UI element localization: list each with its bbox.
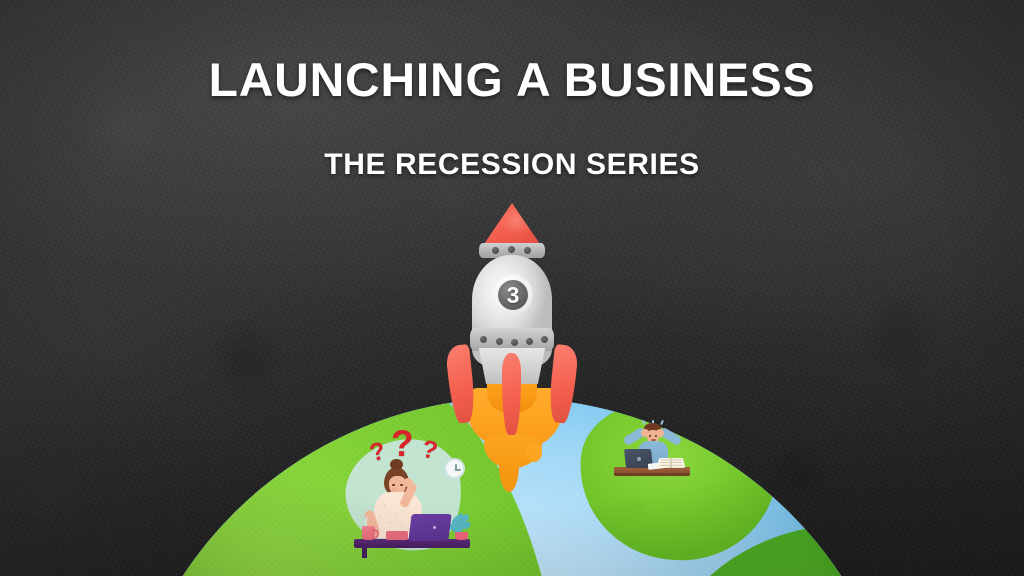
rocket-fin-center: [502, 353, 521, 435]
rivet-icon: [508, 246, 515, 253]
man-hand-left: [641, 429, 649, 437]
rivet-icon: [492, 247, 499, 254]
woman-belt: [386, 531, 408, 540]
flame-plume-tip: [499, 458, 519, 492]
page-title: LAUNCHING A BUSINESS: [0, 56, 1024, 103]
rivet-icon: [480, 336, 487, 343]
woman-hair-bun: [390, 459, 403, 470]
man-laptop-logo: [637, 457, 641, 461]
book-text-lines: [659, 460, 682, 466]
woman-hand: [403, 478, 413, 487]
man-desk-edge: [614, 473, 690, 476]
man-eye-left: [649, 435, 651, 437]
question-mark-icon: ?: [391, 425, 414, 462]
rivet-icon: [541, 336, 548, 343]
wall-clock-icon: [444, 458, 465, 479]
rivet-icon: [496, 338, 503, 345]
stress-line-icon: [660, 420, 664, 425]
illustration-stressed-man: [608, 423, 696, 485]
woman-cheek: [391, 488, 396, 491]
rivet-icon: [524, 247, 531, 254]
presentation-slide: LAUNCHING A BUSINESS THE RECESSION SERIE…: [0, 0, 1024, 576]
plant-pot: [455, 532, 468, 540]
flame-plume-side: [526, 444, 542, 462]
man-hand-right: [656, 429, 664, 437]
woman-laptop-logo: [433, 526, 436, 529]
title-block: LAUNCHING A BUSINESS THE RECESSION SERIE…: [0, 56, 1024, 180]
rocket-illustration: 3: [449, 203, 575, 433]
woman-desk-leg: [362, 548, 367, 558]
page-subtitle: THE RECESSION SERIES: [0, 150, 1024, 180]
open-book-icon: [657, 458, 685, 468]
illustration-confused-woman: ? ? ?: [334, 418, 484, 573]
coffee-mug-icon: [362, 526, 375, 540]
rivet-icon: [526, 338, 533, 345]
woman-laptop-icon: [408, 514, 451, 541]
rivet-icon: [511, 339, 518, 346]
woman-eye-left: [392, 484, 395, 486]
